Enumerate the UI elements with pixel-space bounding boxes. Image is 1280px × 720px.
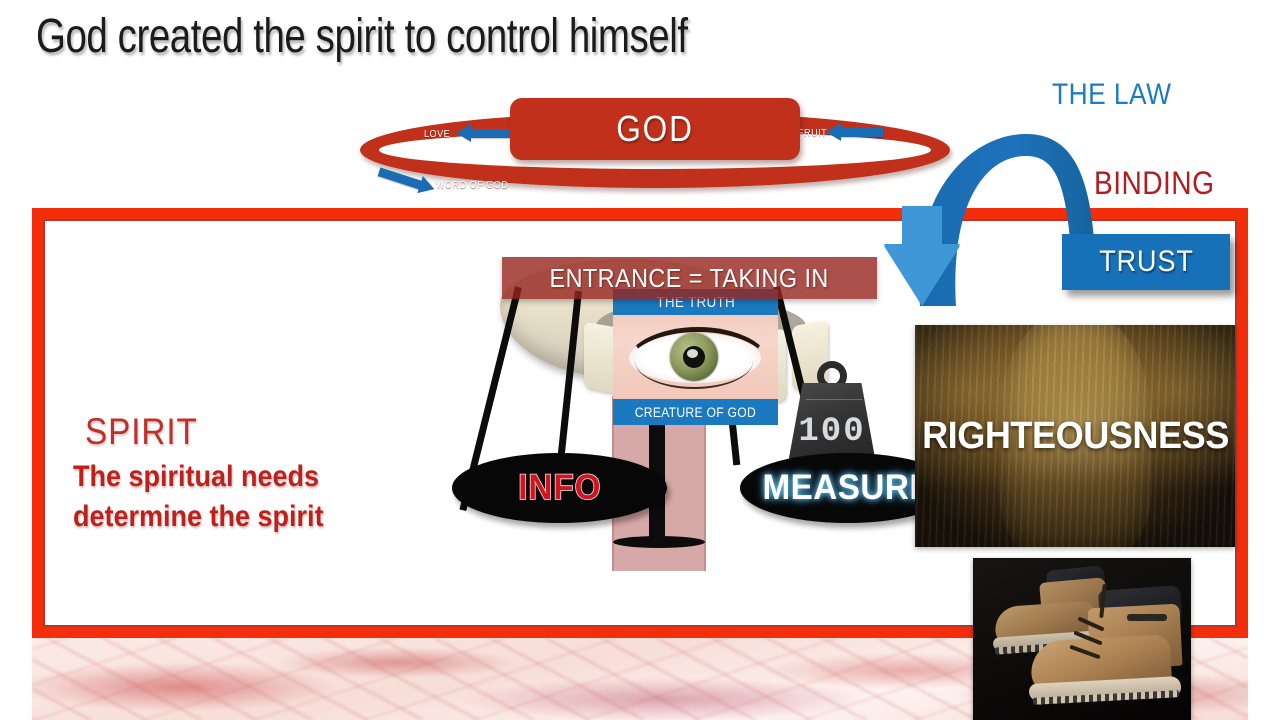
page-title: God created the spirit to control himsel… [36, 8, 688, 66]
entrance-banner: ENTRANCE = TAKING IN [502, 257, 877, 299]
god-box: GOD [510, 98, 800, 160]
righteousness-image: RIGHTEOUSNESS [915, 325, 1235, 547]
trust-label: TRUST [1099, 245, 1194, 279]
cycle-label-word-of-god: WORD OF GOD [436, 179, 508, 191]
slide-canvas: God created the spirit to control himsel… [0, 0, 1280, 720]
measure-label: MEASURE [763, 468, 933, 508]
righteousness-label: RIGHTEOUSNESS [922, 415, 1229, 458]
boots-image [973, 558, 1191, 720]
entrance-banner-label: ENTRANCE = TAKING IN [550, 263, 829, 294]
love-arrow-icon [470, 129, 514, 138]
boot-front [1031, 586, 1191, 708]
god-box-label: GOD [616, 108, 693, 150]
funnel-stem-base [613, 536, 705, 548]
eye-bottom-band-label: CREATURE OF GOD [635, 405, 756, 420]
weight-value-label: 100 [783, 413, 881, 451]
boot-tag [1127, 614, 1167, 621]
spirit-heading: SPIRIT [85, 411, 198, 453]
eye-image [613, 315, 778, 399]
info-label: INFO [518, 468, 601, 508]
eye-lower-lash [635, 361, 753, 389]
spirit-description-line-2: determine the spirit [73, 497, 324, 537]
spirit-description-line-1: The spiritual needs [73, 457, 324, 497]
cycle-label-fruit: FRUIT [798, 127, 827, 139]
cycle-label-love: LOVE [424, 128, 450, 140]
the-law-label: THE LAW [1052, 78, 1171, 112]
trust-box: TRUST [1062, 234, 1230, 290]
eye-image-block: THE TRUTH CREATURE OF GOD [613, 289, 778, 424]
info-oval: INFO [452, 453, 667, 523]
spirit-description: The spiritual needs determine the spirit [73, 457, 324, 537]
eye-bottom-band: CREATURE OF GOD [613, 399, 778, 425]
